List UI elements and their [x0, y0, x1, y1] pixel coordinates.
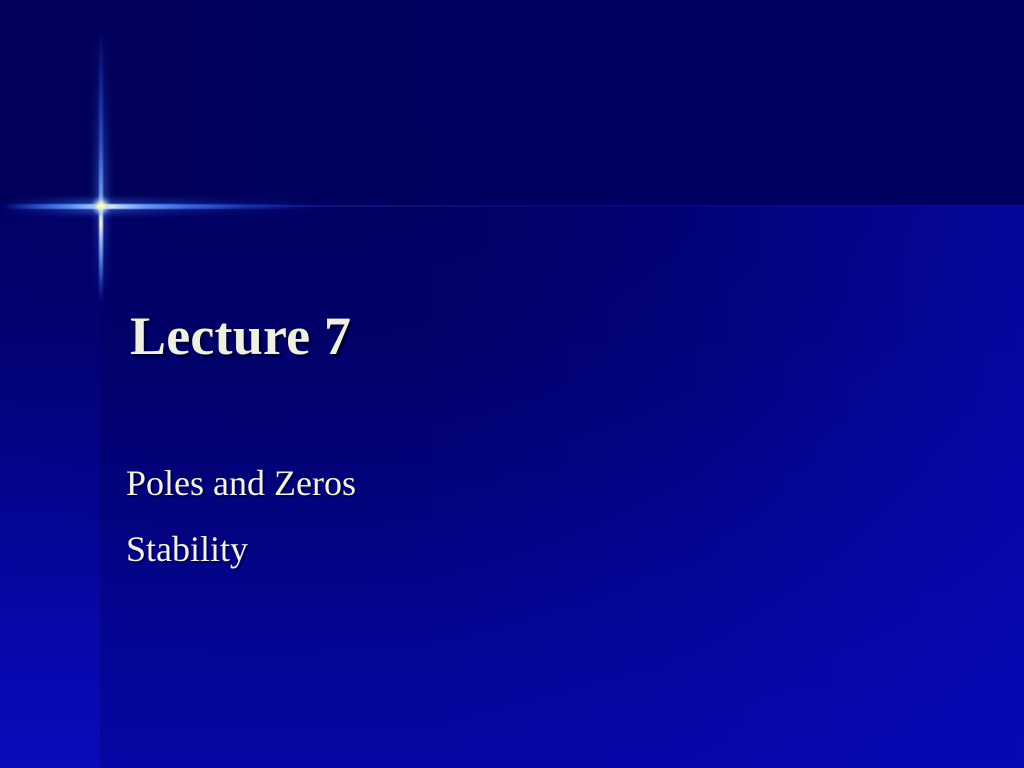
slide-body-line-2: Stability — [126, 516, 356, 582]
slide-body-line-1: Poles and Zeros — [126, 450, 356, 516]
presentation-slide: Lecture 7 Poles and Zeros Stability — [0, 0, 1024, 768]
slide-body-list: Poles and Zeros Stability — [126, 450, 356, 582]
slide-content: Lecture 7 Poles and Zeros Stability — [0, 0, 1024, 768]
slide-title: Lecture 7 — [130, 303, 351, 369]
